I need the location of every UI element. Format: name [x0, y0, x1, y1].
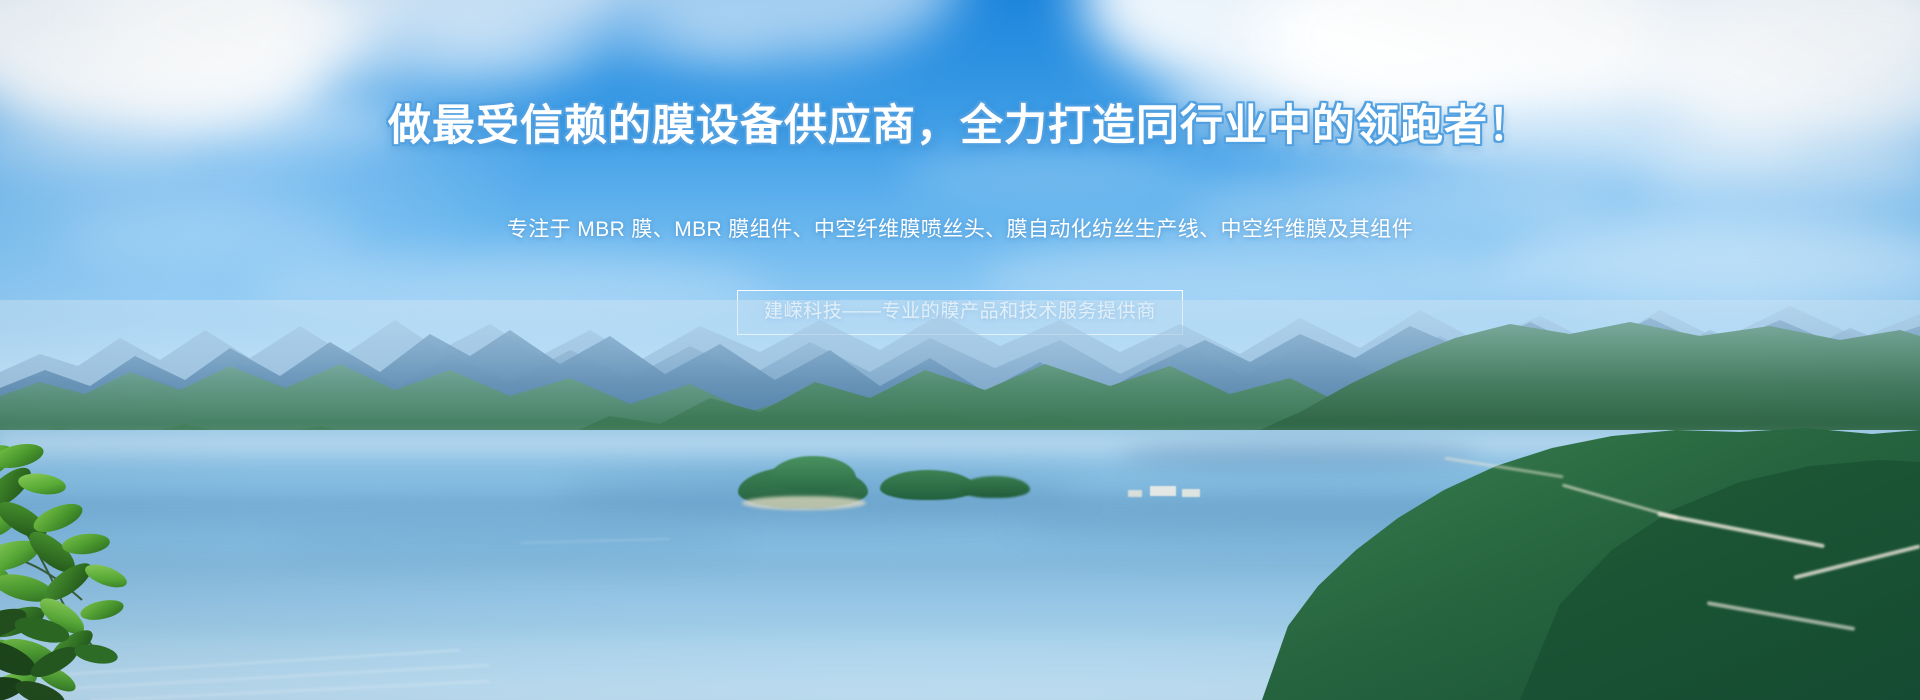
right-headland: [0, 390, 1920, 700]
hero-banner: 做最受信赖的膜设备供应商，全力打造同行业中的领跑者！ 专注于 MBR 膜、MBR…: [0, 0, 1920, 700]
hero-subheadline: 专注于 MBR 膜、MBR 膜组件、中空纤维膜喷丝头、膜自动化纺丝生产线、中空纤…: [0, 215, 1920, 245]
hero-headline: 做最受信赖的膜设备供应商，全力打造同行业中的领跑者！: [0, 100, 1920, 152]
foliage-corner-svg: [0, 600, 180, 700]
